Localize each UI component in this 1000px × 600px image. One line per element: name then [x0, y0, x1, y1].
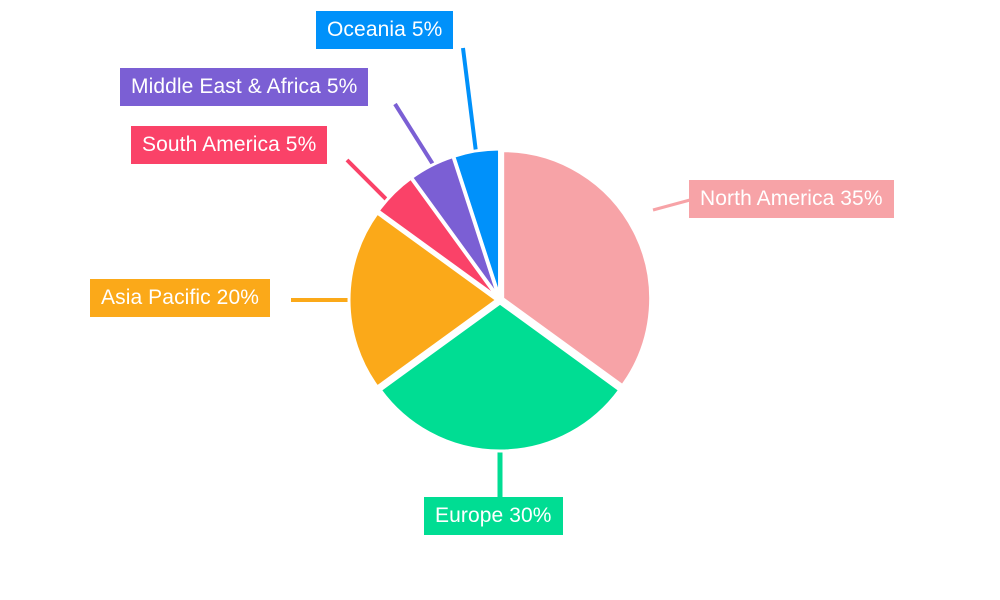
leader-line	[653, 200, 690, 210]
pie-chart: North America 35% Europe 30% Asia Pacifi…	[0, 0, 1000, 600]
slice-label-middle-east-africa[interactable]: Middle East & Africa 5%	[120, 68, 368, 106]
slice-label-europe[interactable]: Europe 30%	[424, 497, 563, 535]
pie-slices	[349, 149, 651, 451]
slice-label-south-america[interactable]: South America 5%	[131, 126, 327, 164]
slice-label-oceania[interactable]: Oceania 5%	[316, 11, 453, 49]
slice-label-north-america[interactable]: North America 35%	[689, 180, 894, 218]
slice-label-asia-pacific[interactable]: Asia Pacific 20%	[90, 279, 270, 317]
